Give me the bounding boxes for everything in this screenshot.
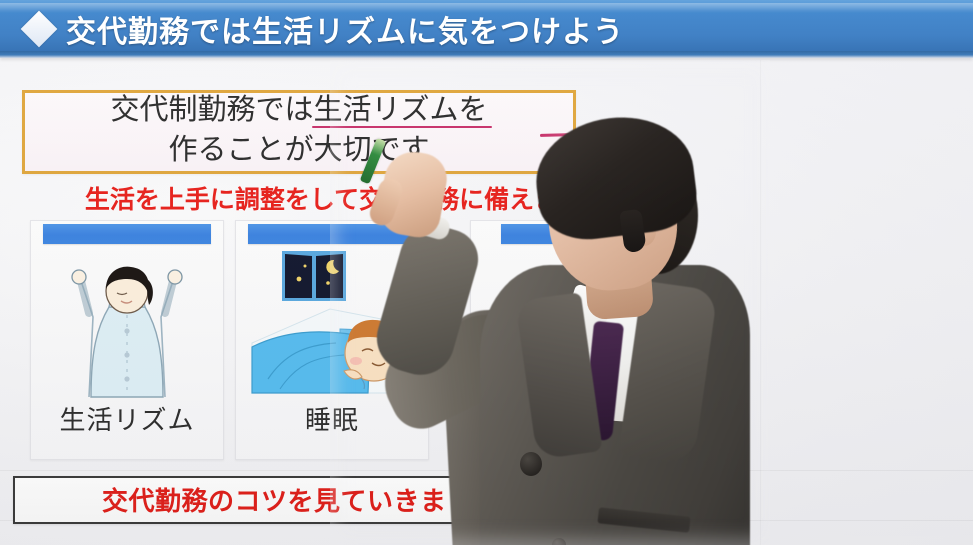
card-illustration xyxy=(471,247,661,402)
card-meal[interactable]: 食事 xyxy=(470,220,662,460)
diamond-icon xyxy=(21,11,58,48)
card-sleep[interactable]: 睡眠 xyxy=(235,220,429,460)
card-life-rhythm[interactable]: 生活リズム xyxy=(30,220,224,460)
card-label: 食事 xyxy=(471,400,661,437)
card-illustration xyxy=(236,247,428,402)
night-window-icon xyxy=(282,251,346,301)
card-header-bar xyxy=(501,224,661,244)
callout-box: 交代制勤務では生活リズムを 作ることが大切です xyxy=(22,90,576,174)
bottom-callout-text: 交代勤務のコツを見ていきまし xyxy=(15,481,560,518)
meal-icon xyxy=(477,299,647,409)
callout-line1-underlined: 生活リズムを xyxy=(314,92,488,126)
sub-headline: 生活を上手に調整をして交代勤務に備えま xyxy=(22,180,622,216)
card-label: 睡眠 xyxy=(236,400,428,437)
card-label: 生活リズム xyxy=(31,400,223,437)
callout-text: 交代制勤務では生活リズムを 作ることが大切です xyxy=(25,89,573,169)
callout-line-2: 作ることが大切です xyxy=(25,129,573,169)
card-header-bar xyxy=(43,224,211,244)
slide-header: 交代勤務では生活リズムに気をつけよう xyxy=(0,0,973,58)
person-stretching-icon xyxy=(61,255,193,405)
card-header-bar xyxy=(248,224,416,244)
slide-stage: 交代勤務では生活リズムに気をつけよう 交代制勤務では生活リズムを 作ることが大切… xyxy=(0,0,973,545)
pink-underline-stroke xyxy=(540,132,612,137)
page-title: 交代勤務では生活リズムに気をつけよう xyxy=(66,7,624,51)
board-seam xyxy=(0,470,973,471)
bottom-callout-box: 交代勤務のコツを見ていきまし xyxy=(13,476,562,524)
callout-line1-prefix: 交代制勤務では xyxy=(110,92,313,126)
card-illustration xyxy=(31,247,223,402)
presenter-button xyxy=(552,538,566,545)
card-row: 生活リズム xyxy=(30,220,710,460)
board-seam-vertical xyxy=(760,60,761,545)
callout-line-1: 交代制勤務では生活リズムを xyxy=(25,89,573,129)
child-sleeping-icon xyxy=(244,247,420,397)
